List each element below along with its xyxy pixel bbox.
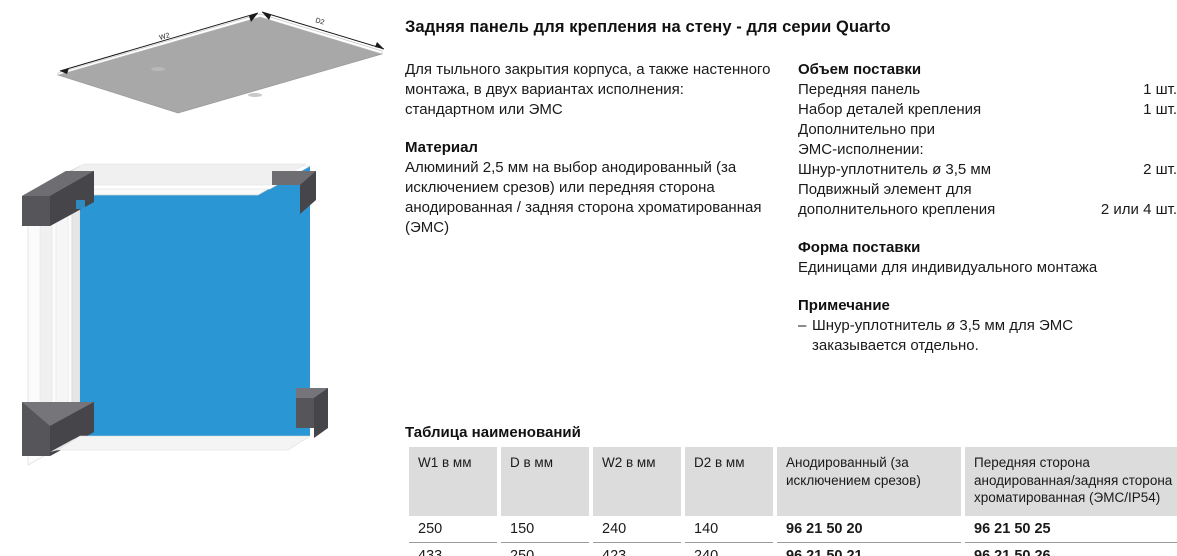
text-column-left: Для тыльного закрытия корпуса, а также н… [405,60,775,238]
cell-d: 250 [501,543,589,556]
text-column-right: Объем поставки Передняя панель1 шт. Набо… [798,60,1177,356]
column-header-emc: Передняя сторона анодированная/задняя ст… [965,447,1177,516]
note-dash-spacer [798,336,812,356]
scope-heading: Объем поставки [798,60,1177,80]
scope-qty: 1 шт. [1143,80,1177,100]
note-dash: – [798,316,812,336]
scope-label: Подвижный элемент для [798,180,1177,200]
cell-order-number-emc: 96 21 50 25 [965,516,1177,543]
scope-row: дополнительного крепления2 или 4 шт. [798,200,1177,220]
scope-row: ЭМС-исполнении: [798,140,1177,160]
scope-label: Дополнительно при [798,120,1177,140]
material-text: Алюминий 2,5 мм на выбор анодированный (… [405,158,775,238]
scope-row: Подвижный элемент для [798,180,1177,200]
cell-w2: 240 [593,516,681,543]
spec-table: W1 в мм D в мм W2 в мм D2 в мм Анодирова… [405,447,1177,556]
cell-w1: 250 [409,516,497,543]
scope-label: Передняя панель [798,80,1143,100]
scope-row: Набор деталей крепления1 шт. [798,100,1177,120]
cell-order-number-anodized: 96 21 50 21 [777,543,961,556]
datasheet-page: W2 D2 [0,0,1177,556]
table-header-row: W1 в мм D в мм W2 в мм D2 в мм Анодирова… [409,447,1177,516]
scope-label: Набор деталей крепления [798,100,1143,120]
column-header-d: D в мм [501,447,589,516]
cell-order-number-emc: 96 21 50 26 [965,543,1177,556]
delivery-form-text: Единицами для индивидуального монтажа [798,258,1177,278]
delivery-form-heading: Форма поставки [798,238,1177,258]
note-line: заказывается отдельно. [798,336,1177,356]
scope-label: ЭМС-исполнении: [798,140,1177,160]
scope-qty: 2 шт. [1143,160,1177,180]
cell-d: 150 [501,516,589,543]
scope-row: Дополнительно при [798,120,1177,140]
note-heading: Примечание [798,296,1177,316]
note-text: заказывается отдельно. [812,336,1177,356]
spec-table-title: Таблица наименований [405,424,1169,441]
scope-qty: 1 шт. [1143,100,1177,120]
cell-d2: 140 [685,516,773,543]
column-header-d2: D2 в мм [685,447,773,516]
page-title: Задняя панель для крепления на стену - д… [405,18,891,37]
cell-w1: 433 [409,543,497,556]
material-heading: Материал [405,138,775,158]
scope-row: Передняя панель1 шт. [798,80,1177,100]
enclosure-drawing [10,140,390,500]
back-panel-drawing: W2 D2 [10,0,390,120]
table-row: 433 250 423 240 96 21 50 21 96 21 50 26 [409,543,1177,556]
cell-d2: 240 [685,543,773,556]
cell-order-number-anodized: 96 21 50 20 [777,516,961,543]
intro-paragraph: Для тыльного закрытия корпуса, а также н… [405,60,775,120]
cell-w2: 423 [593,543,681,556]
scope-qty: 2 или 4 шт. [1101,200,1177,220]
scope-label: Шнур-уплотнитель ø 3,5 мм [798,160,1143,180]
scope-label: дополнительного крепления [798,200,1101,220]
illustration-column: W2 D2 [0,0,395,556]
front-panel-face [80,166,310,436]
spec-table-section: Таблица наименований W1 в мм D в мм W2 в… [405,424,1169,556]
scope-row: Шнур-уплотнитель ø 3,5 мм2 шт. [798,160,1177,180]
dimension-label-d2: D2 [314,17,325,26]
column-header-anodized: Анодированный (за исключением срезов) [777,447,961,516]
table-row: 250 150 240 140 96 21 50 20 96 21 50 25 [409,516,1177,543]
note-line: – Шнур-уплотнитель ø 3,5 мм для ЭМС [798,316,1177,336]
column-header-w2: W2 в мм [593,447,681,516]
note-text: Шнур-уплотнитель ø 3,5 мм для ЭМС [812,316,1177,336]
column-header-w1: W1 в мм [409,447,497,516]
